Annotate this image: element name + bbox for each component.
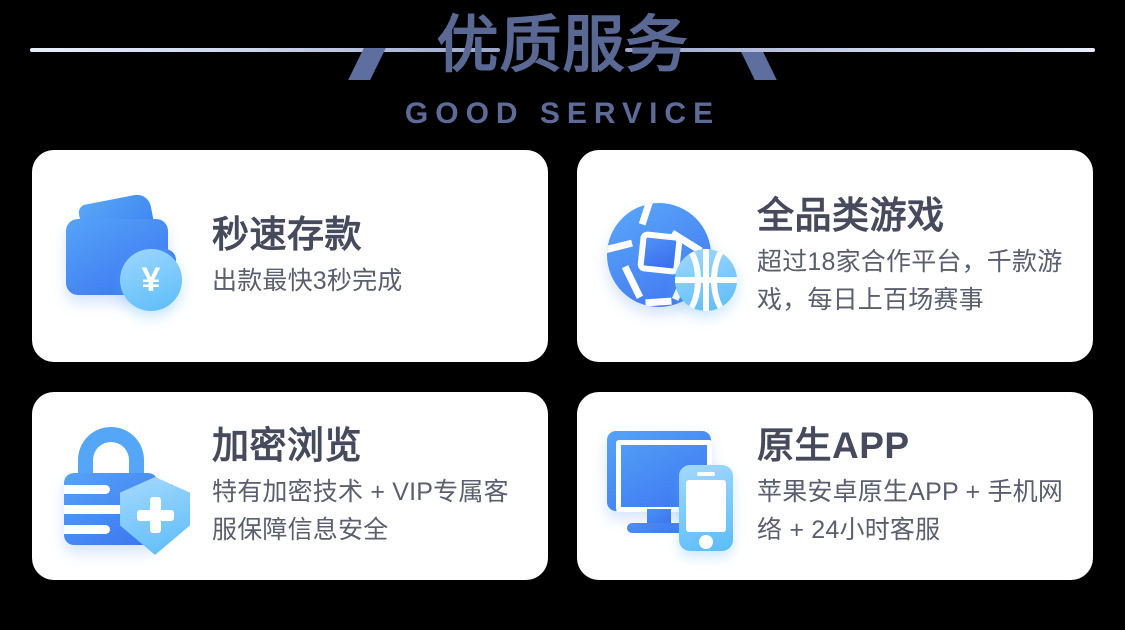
card-title: 原生APP: [757, 423, 1069, 469]
feature-card-grid: ¥ 秒速存款 出款最快3秒完成: [32, 150, 1093, 580]
monitor-phone-icon: [603, 421, 743, 551]
banner-header: 优质服务 GOOD SERVICE: [0, 0, 1125, 142]
card-text-block: 全品类游戏 超过18家合作平台，千款游戏，每日上百场赛事: [743, 193, 1073, 319]
feature-card-encryption[interactable]: 加密浏览 特有加密技术 + VIP专属客服保障信息安全: [32, 392, 548, 580]
card-title: 秒速存款: [212, 212, 524, 258]
card-description: 出款最快3秒完成: [212, 262, 524, 300]
smartphone-icon: [679, 465, 733, 551]
card-text-block: 原生APP 苹果安卓原生APP + 手机网络 + 24小时客服: [743, 423, 1073, 549]
feature-card-native-app[interactable]: 原生APP 苹果安卓原生APP + 手机网络 + 24小时客服: [577, 392, 1093, 580]
card-title: 全品类游戏: [757, 193, 1069, 239]
card-description: 特有加密技术 + VIP专属客服保障信息安全: [212, 473, 524, 549]
feature-card-games[interactable]: 全品类游戏 超过18家合作平台，千款游戏，每日上百场赛事: [577, 150, 1093, 362]
feature-card-deposit[interactable]: ¥ 秒速存款 出款最快3秒完成: [32, 150, 548, 362]
page-subtitle: GOOD SERVICE: [0, 96, 1125, 132]
card-text-block: 秒速存款 出款最快3秒完成: [198, 212, 528, 300]
lock-shield-icon: [58, 421, 198, 551]
page-title: 优质服务: [0, 8, 1125, 84]
promo-banner: 优质服务 GOOD SERVICE ¥ 秒速存款 出款最快3秒完成: [0, 0, 1125, 630]
wallet-yen-icon: ¥: [58, 191, 198, 321]
basketball-icon: [675, 249, 737, 311]
card-text-block: 加密浏览 特有加密技术 + VIP专属客服保障信息安全: [198, 423, 528, 549]
card-title: 加密浏览: [212, 423, 524, 469]
yen-coin-icon: ¥: [120, 249, 182, 311]
soccer-basketball-icon: [603, 191, 743, 321]
card-description: 超过18家合作平台，千款游戏，每日上百场赛事: [757, 243, 1069, 319]
card-description: 苹果安卓原生APP + 手机网络 + 24小时客服: [757, 473, 1069, 549]
